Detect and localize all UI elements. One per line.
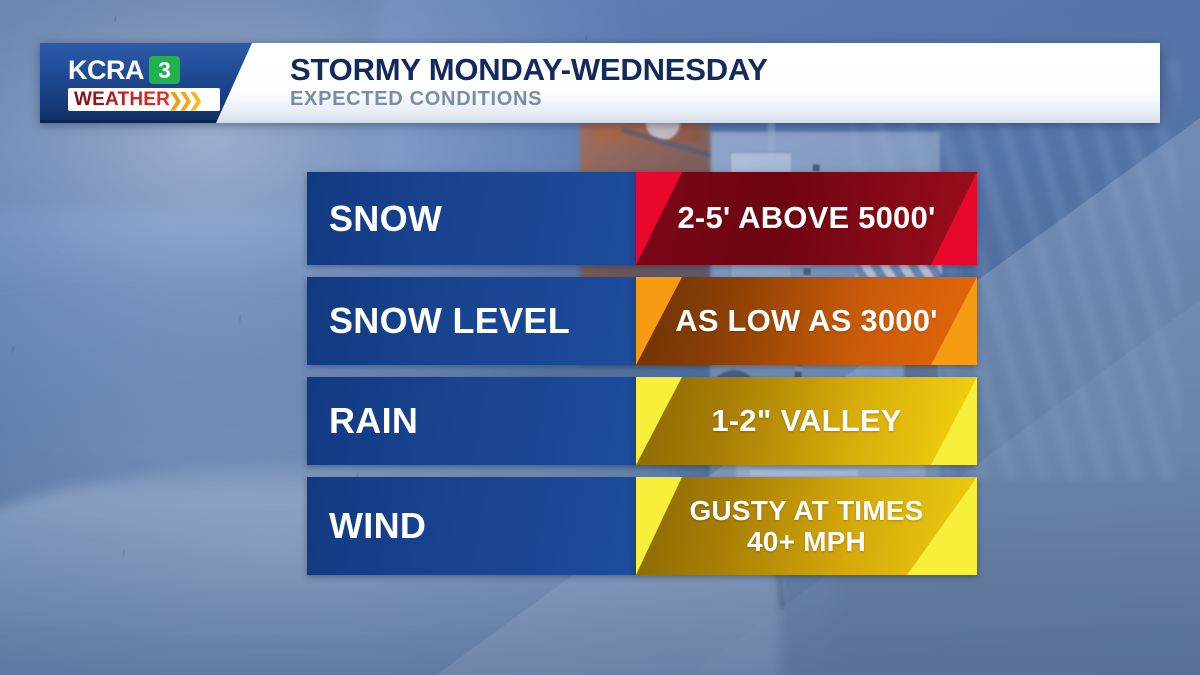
row-label: SNOW <box>307 201 442 237</box>
row-value: AS LOW AS 3000' <box>675 304 937 339</box>
accent-corner-top-left <box>636 477 682 575</box>
kcra-call-letters: KCRA <box>68 55 144 85</box>
channel-number: 3 <box>158 59 171 82</box>
row-label: WIND <box>307 508 426 544</box>
header-banner: KCRA 3 WEATHER ❯❯❯ STORMY MONDAY-WEDNESD… <box>40 43 1160 123</box>
table-row-wind: WIND GUSTY AT TIMES 40+ MPH <box>307 477 977 575</box>
banner-text-block: STORMY MONDAY-WEDNESDAY EXPECTED CONDITI… <box>290 51 768 111</box>
channel-number-badge: 3 <box>149 56 180 84</box>
accent-corner-bottom-right <box>931 172 977 265</box>
row-label-box: RAIN <box>307 377 637 465</box>
chevron-right-triple-icon: ❯❯❯ <box>173 91 203 109</box>
row-value: 1-2" VALLEY <box>711 404 901 439</box>
accent-corner-bottom-right <box>931 377 977 465</box>
row-value-line-2: 40+ MPH <box>689 526 923 557</box>
row-value: 2-5' ABOVE 5000' <box>677 201 935 236</box>
logo-top-row: KCRA 3 <box>68 55 236 85</box>
row-value-box: 1-2" VALLEY <box>636 377 977 465</box>
row-label: RAIN <box>307 403 418 439</box>
row-label-box: WIND <box>307 477 637 575</box>
page-subtitle: EXPECTED CONDITIONS <box>290 87 768 111</box>
weather-wordmark: WEATHER <box>74 88 170 111</box>
row-label: SNOW LEVEL <box>307 303 570 339</box>
row-value-box: AS LOW AS 3000' <box>636 277 977 365</box>
table-row-snow: SNOW 2-5' ABOVE 5000' <box>307 172 977 265</box>
row-value-box: GUSTY AT TIMES 40+ MPH <box>636 477 977 575</box>
row-label-box: SNOW <box>307 172 637 265</box>
row-value-box: 2-5' ABOVE 5000' <box>636 172 977 265</box>
table-row-rain: RAIN 1-2" VALLEY <box>307 377 977 465</box>
row-label-box: SNOW LEVEL <box>307 277 637 365</box>
logo-bottom-row: WEATHER ❯❯❯ <box>68 88 220 111</box>
table-row-snow-level: SNOW LEVEL AS LOW AS 3000' <box>307 277 977 365</box>
conditions-table: SNOW 2-5' ABOVE 5000' SNOW LEVEL AS LOW … <box>307 172 977 575</box>
page-title: STORMY MONDAY-WEDNESDAY <box>290 51 768 89</box>
row-value-line-1: GUSTY AT TIMES <box>689 495 923 526</box>
kcra-weather-logo: KCRA 3 WEATHER ❯❯❯ <box>68 55 236 113</box>
row-value-multiline: GUSTY AT TIMES 40+ MPH <box>689 495 923 558</box>
accent-corner-top-left <box>636 377 682 465</box>
accent-corner-top-left <box>636 172 682 265</box>
